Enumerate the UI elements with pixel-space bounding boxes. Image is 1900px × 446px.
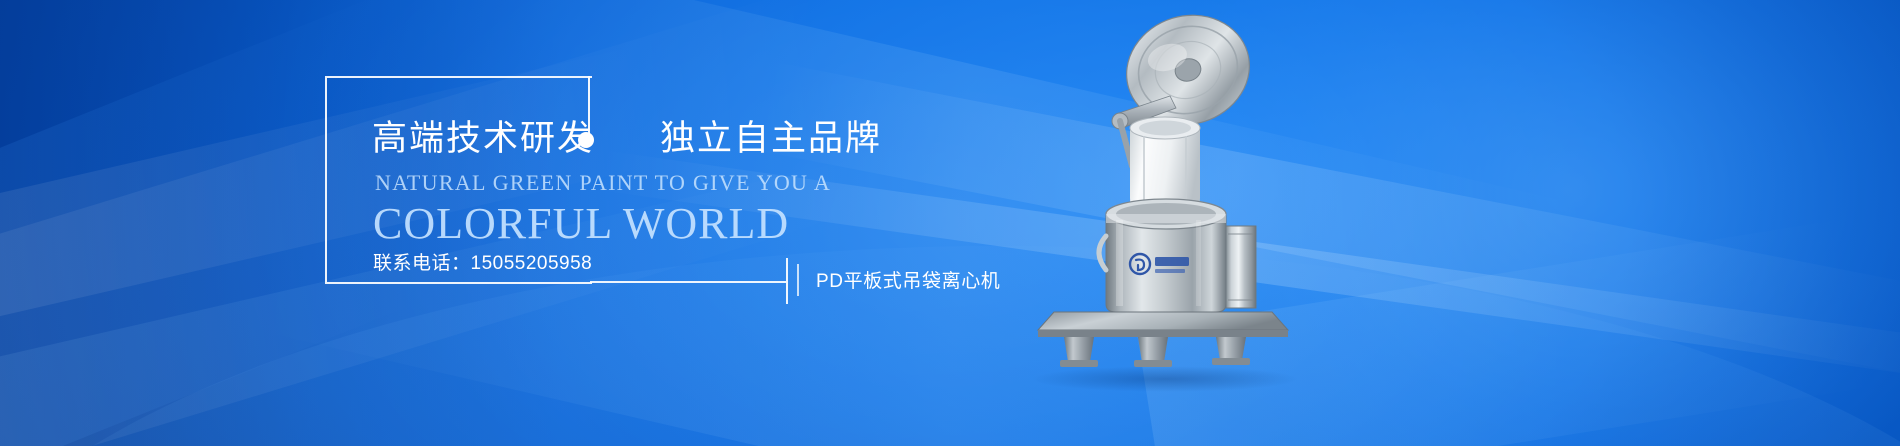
product-label-tick-primary <box>786 258 788 304</box>
headline-part-2: 独立自主品牌 <box>660 119 882 158</box>
promo-banner: 高端技术研发独立自主品牌 NATURAL GREEN PAINT TO GIVE… <box>0 0 1900 446</box>
product-label: PD平板式吊袋离心机 <box>816 266 1000 293</box>
tagline-english: COLORFUL WORLD <box>373 198 789 249</box>
product-label-rule <box>590 281 786 283</box>
background-vignette <box>0 0 1900 446</box>
headline: 高端技术研发独立自主品牌 <box>372 116 882 162</box>
headline-part-1: 高端技术研发 <box>372 119 594 158</box>
product-image-centrifuge <box>1020 8 1320 368</box>
subtitle-english: NATURAL GREEN PAINT TO GIVE YOU A <box>375 170 831 196</box>
product-label-tick-secondary <box>797 264 799 296</box>
contact-phone: 联系电话：15055205958 <box>373 248 592 275</box>
